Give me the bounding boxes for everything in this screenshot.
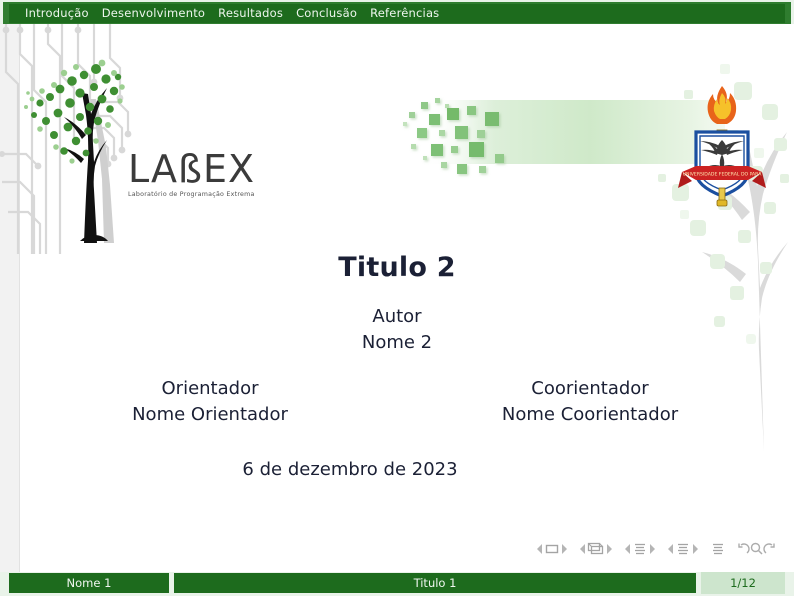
author-block: Autor Nome 2 [0, 304, 794, 356]
frame-icon[interactable] [587, 542, 605, 556]
appendix-navigation-group[interactable] [710, 542, 726, 556]
section-icon[interactable] [675, 542, 691, 556]
nav-item-desenvolvimento[interactable]: Desenvolvimento [102, 8, 205, 20]
advisor-column: Orientador Nome Orientador [60, 376, 360, 428]
slide-prev-icon[interactable] [536, 543, 544, 555]
forward-nav-icon[interactable] [763, 542, 776, 556]
advisor-role: Orientador [162, 378, 259, 399]
slide-next-icon[interactable] [560, 543, 568, 555]
labex-logo: LAßEX Laboratório de Programação Extrema [128, 150, 248, 198]
slide-canvas: UNIVERSIDADE FEDERAL DO PARÁ LAßEX Labor… [0, 24, 794, 572]
history-navigation-group[interactable] [737, 542, 776, 556]
subsection-icon[interactable] [632, 542, 648, 556]
subsection-next-icon[interactable] [648, 543, 656, 555]
frame-navigation-group[interactable] [579, 542, 613, 556]
nav-item-conclusao[interactable]: Conclusão [296, 8, 357, 20]
section-navigation-group[interactable] [667, 542, 699, 556]
advisor-name: Nome Orientador [60, 402, 360, 428]
footer-title: Titulo 1 [174, 573, 696, 593]
frame-prev-icon[interactable] [579, 543, 587, 555]
author-name: Nome 2 [0, 330, 794, 356]
section-prev-icon[interactable] [667, 543, 675, 555]
coadvisor-column: Coorientador Nome Coorientador [440, 376, 740, 428]
page-title: Titulo 2 [0, 252, 794, 283]
appendix-icon[interactable] [710, 542, 726, 556]
slide-footer: Nome 1 Titulo 1 1/12 [0, 572, 794, 596]
footer-page-number: 1/12 [701, 572, 785, 594]
author-role: Autor [372, 306, 421, 327]
coadvisor-name: Nome Coorientador [440, 402, 740, 428]
torch-flame-icon [708, 86, 737, 124]
advisors-block: Orientador Nome Orientador Coorientador … [60, 376, 740, 428]
tree-logo-icon [10, 29, 140, 259]
presentation-date: 6 de dezembro de 2023 [0, 459, 700, 480]
search-nav-icon[interactable] [750, 542, 763, 556]
labex-subtitle: Laboratório de Programação Extrema [128, 191, 248, 198]
footer-author: Nome 1 [9, 573, 169, 593]
section-next-icon[interactable] [691, 543, 699, 555]
subsection-navigation-group[interactable] [624, 542, 656, 556]
slide-icon[interactable] [544, 543, 560, 555]
nav-item-resultados[interactable]: Resultados [218, 8, 283, 20]
slide-navigation-group[interactable] [536, 543, 568, 555]
subsection-prev-icon[interactable] [624, 543, 632, 555]
beamer-navigation-symbols[interactable] [525, 542, 776, 556]
coadvisor-role: Coorientador [531, 378, 648, 399]
nav-item-referencias[interactable]: Referências [370, 8, 439, 20]
nav-item-introducao[interactable]: Introdução [25, 8, 89, 20]
labex-wordmark: LAßEX [128, 150, 248, 188]
section-navigation-inner: Introdução Desenvolvimento Resultados Co… [9, 4, 785, 23]
ufpa-seal-logo: UNIVERSIDADE FEDERAL DO PARÁ [676, 84, 768, 209]
section-navigation-bar: Introdução Desenvolvimento Resultados Co… [0, 0, 794, 24]
back-nav-icon[interactable] [737, 542, 750, 556]
seal-ribbon-text: UNIVERSIDADE FEDERAL DO PARÁ [683, 171, 763, 178]
frame-next-icon[interactable] [605, 543, 613, 555]
pixel-squares-decoration [395, 94, 585, 184]
presentation-slide: Introdução Desenvolvimento Resultados Co… [0, 0, 794, 596]
